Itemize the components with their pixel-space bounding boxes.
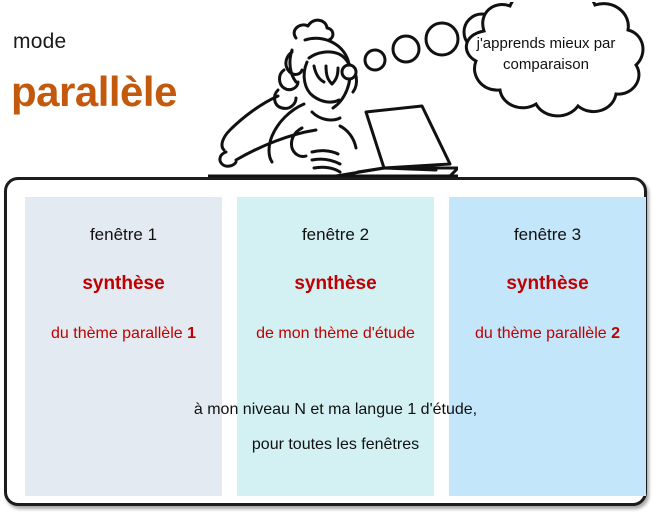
window-column-3[interactable]: fenêtre 3 synthèse du thème parallèle 2 [449, 197, 646, 496]
column-subtext-2-main: de mon thème [256, 325, 358, 342]
column-title-2: fenêtre 2 [237, 225, 434, 245]
window-column-2[interactable]: fenêtre 2 synthèse de mon thème d'étude [237, 197, 434, 496]
column-subtext-3-emphasis: 2 [611, 325, 620, 342]
window-column-1[interactable]: fenêtre 1 synthèse du thème parallèle 1 [25, 197, 222, 496]
column-subtext-2-emphasis: d'étude [363, 325, 415, 342]
thought-bubble-icon [330, 2, 657, 152]
column-heading-3: synthèse [449, 273, 646, 295]
column-heading-1: synthèse [25, 273, 222, 295]
page-title: parallèle [11, 68, 177, 116]
header-area: mode parallèle [0, 0, 657, 178]
column-subtext-1: du thème parallèle 1 [25, 322, 222, 345]
column-subtext-3: du thème parallèle 2 [449, 322, 646, 345]
column-title-1: fenêtre 1 [25, 225, 222, 245]
column-subtext-2: de mon thème d'étude [237, 322, 434, 345]
mode-label: mode [13, 30, 66, 54]
column-heading-2: synthèse [237, 273, 434, 295]
column-subtext-1-emphasis: 1 [187, 325, 196, 342]
column-subtext-3-main: du thème parallèle [475, 325, 607, 342]
thought-bubble-text: j'apprends mieux par comparaison [472, 33, 620, 75]
parallel-mode-panel: fenêtre 1 synthèse du thème parallèle 1 … [4, 177, 647, 506]
column-title-3: fenêtre 3 [449, 225, 646, 245]
column-subtext-1-main: du thème parallèle [51, 325, 183, 342]
